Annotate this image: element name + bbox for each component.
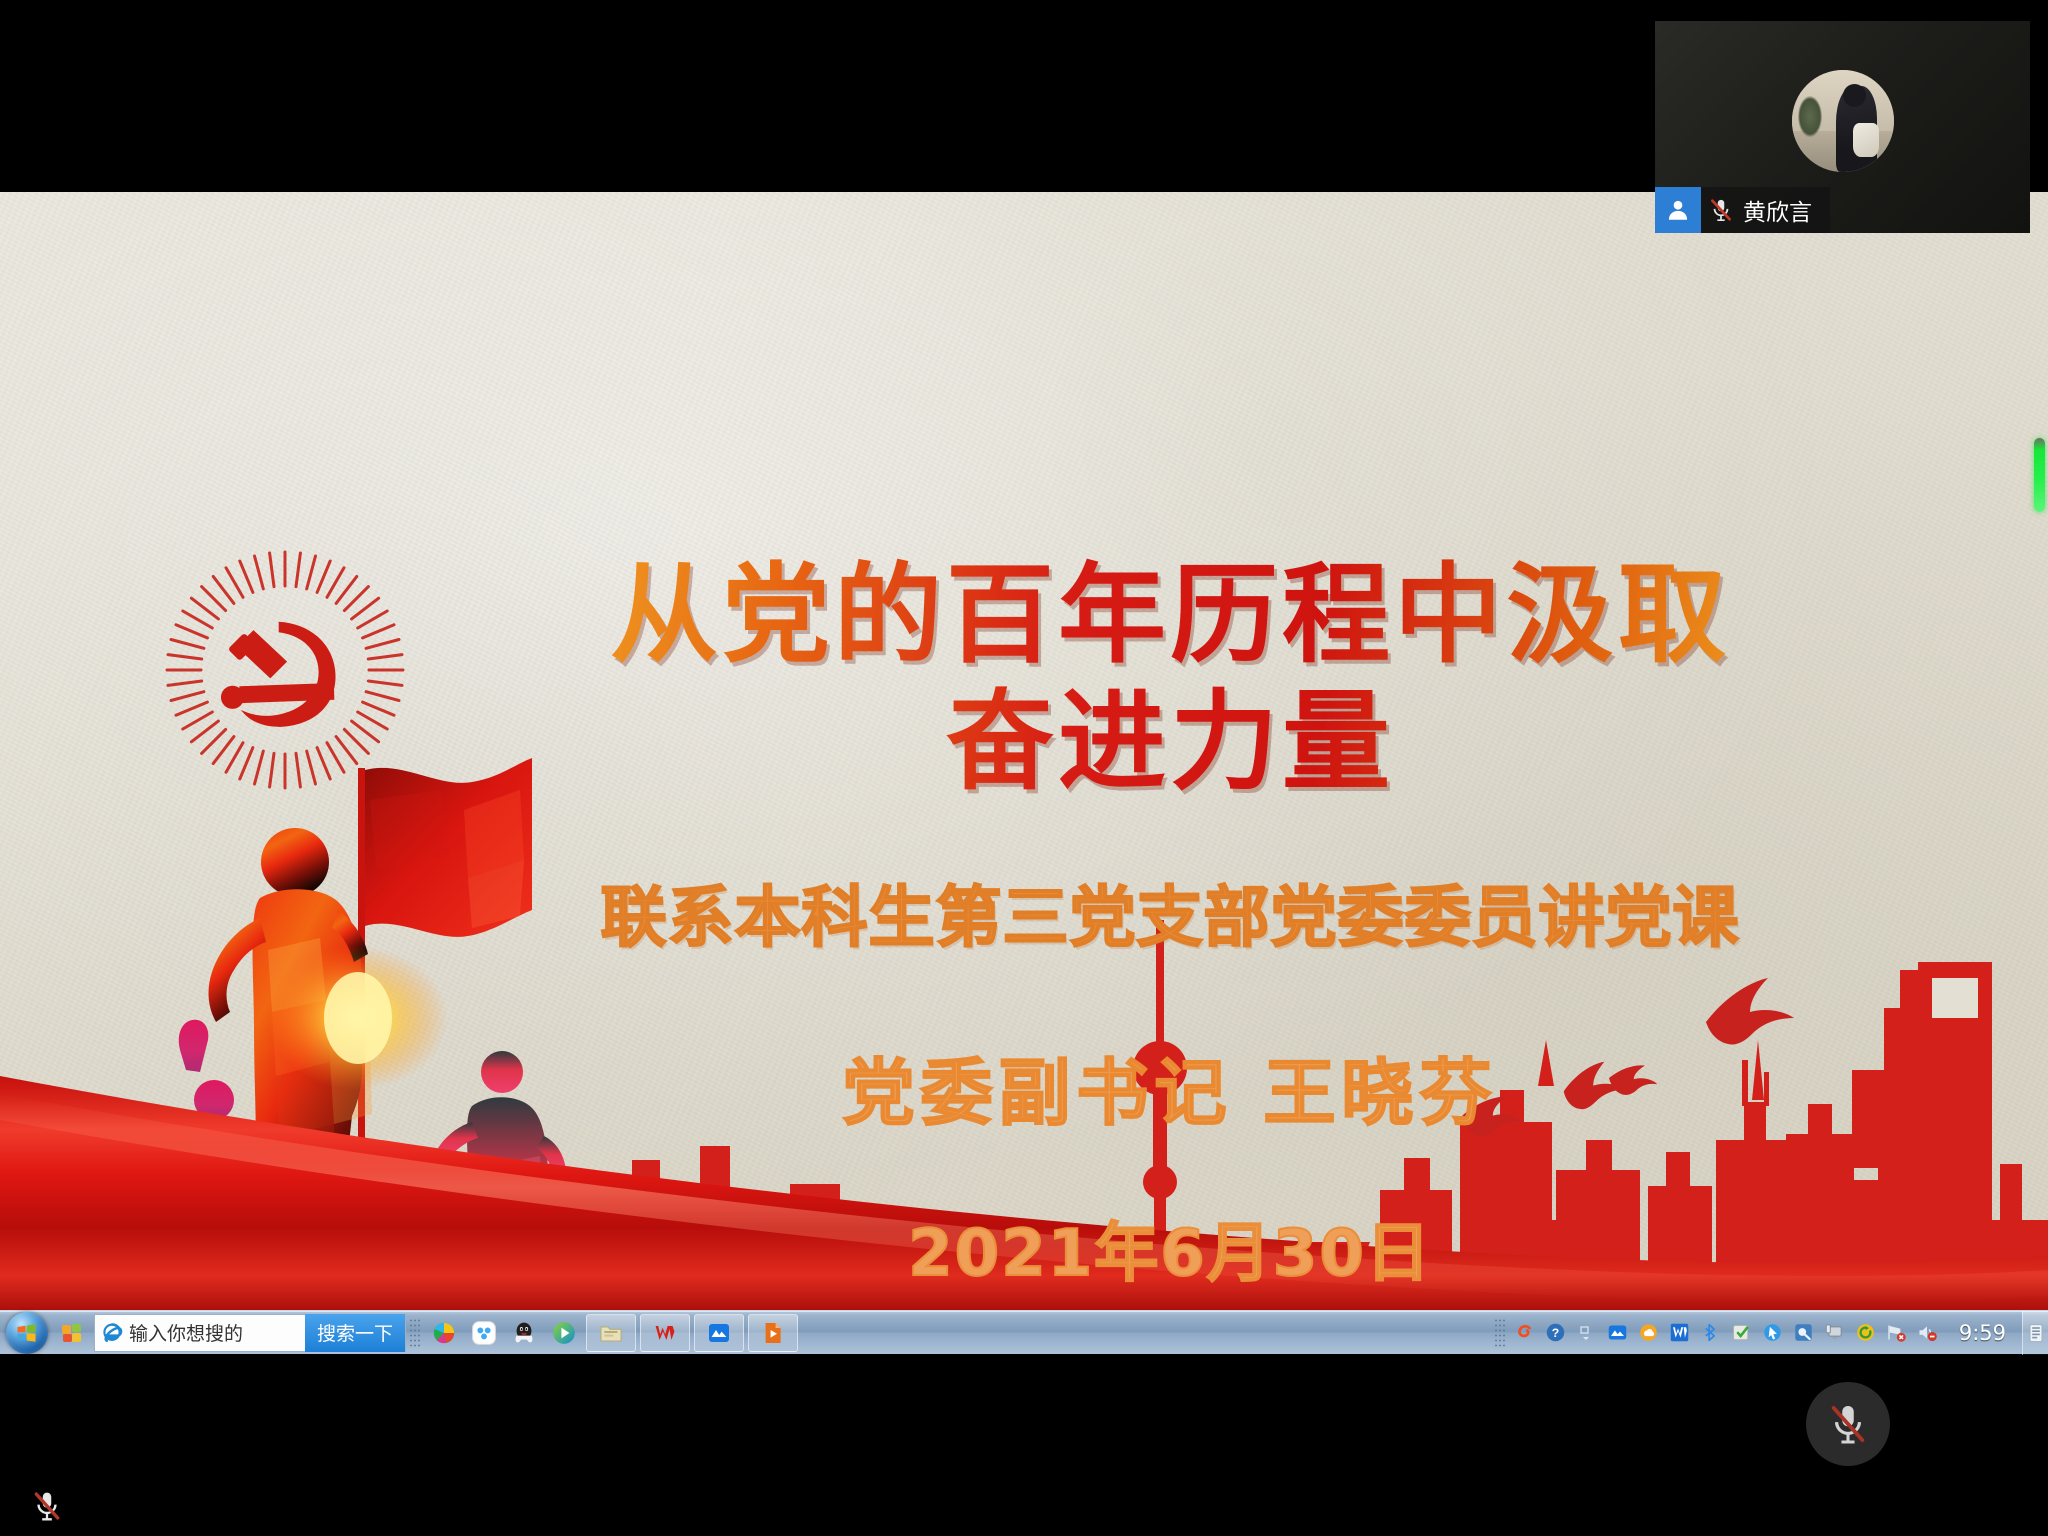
baidu-netdisk-icon[interactable] bbox=[464, 1313, 504, 1353]
volume-muted-icon[interactable] bbox=[1912, 1313, 1943, 1353]
windows-start-orb[interactable] bbox=[2, 1312, 52, 1354]
show-hidden-icons-icon[interactable] bbox=[1571, 1313, 1602, 1353]
driver-icon[interactable] bbox=[1788, 1313, 1819, 1353]
participant-video-thumbnail[interactable]: 黄欣言 bbox=[1655, 21, 2030, 233]
mic-muted-icon-corner[interactable] bbox=[30, 1489, 64, 1523]
mic-muted-icon bbox=[1701, 197, 1741, 223]
mic-muted-icon bbox=[1825, 1401, 1871, 1447]
qq-icon[interactable] bbox=[504, 1313, 544, 1353]
person-icon bbox=[1655, 187, 1701, 233]
sogou-input-icon[interactable] bbox=[1509, 1313, 1540, 1353]
search-input[interactable]: 输入你想搜的 bbox=[129, 1319, 305, 1346]
avatar bbox=[1792, 70, 1894, 172]
tray-grip[interactable] bbox=[1494, 1318, 1506, 1348]
cursor-icon[interactable] bbox=[1757, 1313, 1788, 1353]
internet-explorer-icon bbox=[95, 1321, 129, 1345]
meeting-app-icon[interactable] bbox=[694, 1314, 744, 1352]
ie-search-bar[interactable]: 输入你想搜的 搜索一下 bbox=[94, 1314, 406, 1352]
participant-name: 黄欣言 bbox=[1741, 193, 1830, 227]
powerpoint-icon[interactable] bbox=[748, 1314, 798, 1352]
slide-speaker: 党委副书记 王晓芬 bbox=[560, 1034, 1780, 1139]
participant-name-bar: 黄欣言 bbox=[1655, 187, 1830, 233]
slide-title-line-1: 从党的百年历程中汲取 bbox=[560, 552, 1780, 679]
toolbar-grip[interactable] bbox=[409, 1318, 421, 1348]
windows-taskbar: 输入你想搜的 搜索一下 bbox=[0, 1310, 2048, 1354]
slide-subtitle: 联系本科生第三党支部党委委员讲党课 bbox=[560, 864, 1780, 960]
svg-text:?: ? bbox=[1552, 1326, 1559, 1340]
shared-slide: 从党的百年历程中汲取 奋进力量 联系本科生第三党支部党委委员讲党课 党委副书记 … bbox=[0, 192, 2048, 1310]
slide-title: 从党的百年历程中汲取 奋进力量 bbox=[560, 552, 1780, 807]
wps-icon[interactable] bbox=[640, 1314, 690, 1352]
screen-share-indicator bbox=[2034, 438, 2045, 512]
slide-date: 2021年6月30日 bbox=[560, 1202, 1780, 1294]
wps-writer-icon[interactable] bbox=[1664, 1313, 1695, 1353]
update-shield-icon[interactable] bbox=[1850, 1313, 1881, 1353]
mute-toggle-button[interactable] bbox=[1806, 1382, 1890, 1466]
screen: 从党的百年历程中汲取 奋进力量 联系本科生第三党支部党委委员讲党课 党委副书记 … bbox=[0, 0, 2048, 1536]
slide-title-line-2: 奋进力量 bbox=[560, 679, 1780, 806]
system-tray: ? bbox=[1491, 1311, 2048, 1355]
help-icon[interactable]: ? bbox=[1540, 1313, 1571, 1353]
display-icon[interactable] bbox=[1819, 1313, 1850, 1353]
search-button[interactable]: 搜索一下 bbox=[305, 1314, 405, 1352]
show-desktop-icon[interactable] bbox=[2022, 1311, 2048, 1355]
quick-launch-app-icon[interactable] bbox=[52, 1313, 92, 1353]
media-player-icon[interactable] bbox=[544, 1313, 584, 1353]
meeting-app-tray-icon[interactable] bbox=[1602, 1313, 1633, 1353]
360-browser-icon[interactable] bbox=[424, 1313, 464, 1353]
bluetooth-icon[interactable] bbox=[1695, 1313, 1726, 1353]
taskbar-clock[interactable]: 9:59 bbox=[1943, 1321, 2022, 1345]
security-check-icon[interactable] bbox=[1726, 1313, 1757, 1353]
network-error-icon[interactable] bbox=[1881, 1313, 1912, 1353]
wps-cloud-icon[interactable] bbox=[1633, 1313, 1664, 1353]
explorer-window-icon[interactable] bbox=[586, 1314, 636, 1352]
